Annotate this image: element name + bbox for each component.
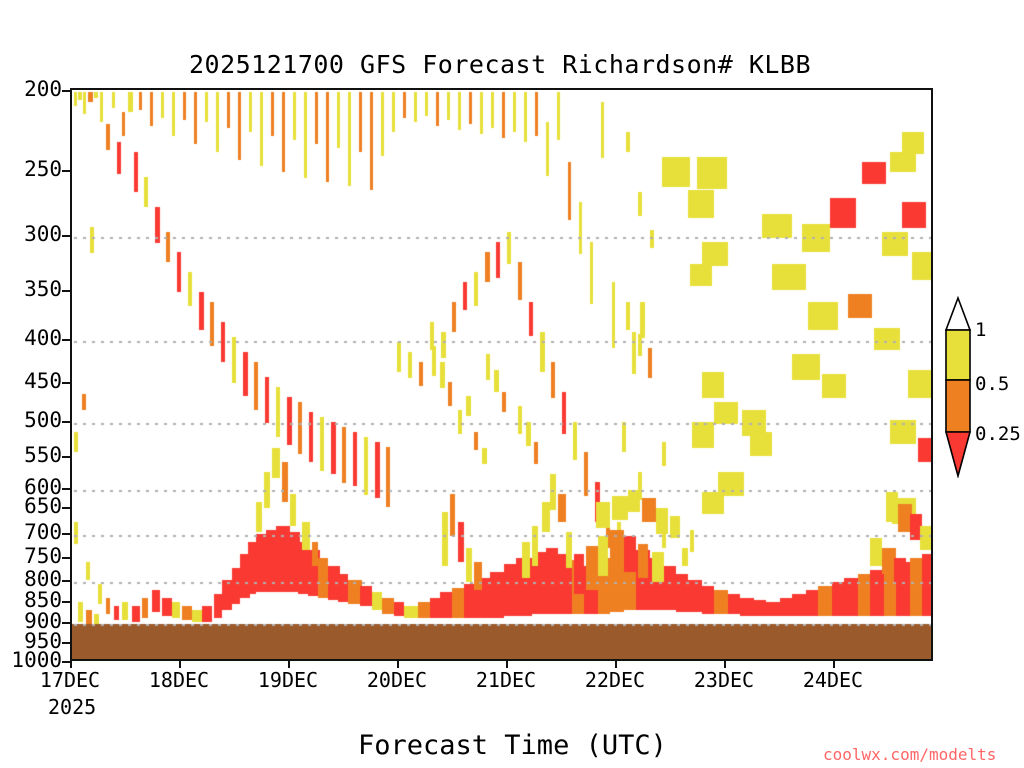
colorbar-red-segment — [946, 432, 970, 476]
watermark: coolwx.com/modelts — [823, 745, 996, 764]
x-tick-label: 17DEC — [40, 668, 100, 692]
x-tick-mark — [288, 661, 290, 668]
colorbar — [943, 296, 973, 478]
chart-root: 2025121700 GFS Forecast Richardson# KLBB… — [0, 0, 1024, 768]
x-axis-title: Forecast Time (UTC) — [358, 730, 667, 761]
x-tick-mark — [70, 661, 72, 668]
colorbar-yellow-segment — [946, 330, 970, 380]
colorbar-label: 0.5 — [975, 373, 1009, 395]
colorbar-label: 1 — [975, 319, 986, 341]
x-tick-label: 20DEC — [367, 668, 427, 692]
x-tick-mark — [179, 661, 181, 668]
x-tick-label: 22DEC — [585, 668, 645, 692]
x-tick-label: 19DEC — [258, 668, 318, 692]
x-tick-mark — [833, 661, 835, 668]
x-tick-label: 21DEC — [476, 668, 536, 692]
plot-area — [70, 88, 933, 661]
year-label: 2025 — [48, 695, 96, 719]
colorbar-label: 0.25 — [975, 423, 1021, 445]
x-tick-label: 23DEC — [694, 668, 754, 692]
colorbar-orange-segment — [946, 380, 970, 432]
x-tick-mark — [615, 661, 617, 668]
x-tick-label: 18DEC — [149, 668, 209, 692]
x-tick-mark — [397, 661, 399, 668]
x-tick-label: 24DEC — [803, 668, 863, 692]
colorbar-above-1-segment — [946, 298, 970, 330]
richardson-heatmap — [72, 90, 931, 659]
x-tick-mark — [506, 661, 508, 668]
x-tick-mark — [724, 661, 726, 668]
